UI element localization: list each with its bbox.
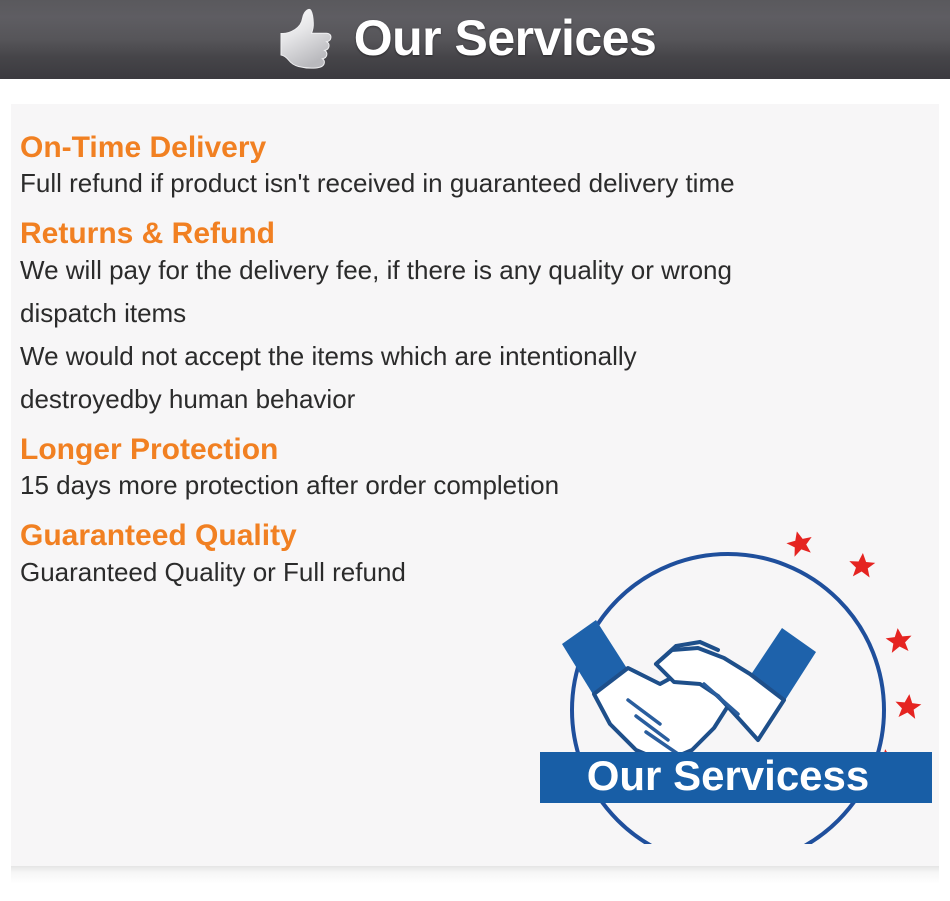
star-icon <box>872 747 901 774</box>
service-line: 15 days more protection after order comp… <box>20 472 939 498</box>
service-line: dispatch items <box>20 300 939 326</box>
service-line: Guaranteed Quality or Full refund <box>20 559 939 585</box>
service-line: destroyedby human behavior <box>20 386 939 412</box>
logo-banner-text: Our Servicess <box>587 752 870 799</box>
service-line: Full refund if product isn't received in… <box>20 170 939 196</box>
services-banner: Our Services <box>0 0 950 901</box>
services-panel: Our Servicess On-Time Delivery Full refu… <box>11 104 939 866</box>
services-list: On-Time Delivery Full refund if product … <box>11 104 939 585</box>
handshake-icon <box>562 620 816 762</box>
star-icon <box>894 693 922 720</box>
service-heading: Longer Protection <box>20 432 939 467</box>
header-bar: Our Services <box>0 0 950 79</box>
service-heading: Returns & Refund <box>20 216 939 251</box>
service-item: Guaranteed Quality Guaranteed Quality or… <box>20 518 939 584</box>
service-item: Longer Protection 15 days more protectio… <box>20 432 939 498</box>
panel-drop-shadow <box>11 866 939 884</box>
service-item: Returns & Refund We will pay for the del… <box>20 216 939 411</box>
service-heading: Guaranteed Quality <box>20 518 939 553</box>
service-heading: On-Time Delivery <box>20 130 939 165</box>
service-item: On-Time Delivery Full refund if product … <box>20 130 939 196</box>
logo-banner <box>540 752 932 803</box>
logo-arc <box>572 554 884 844</box>
page-title: Our Services <box>354 13 657 63</box>
thumbs-up-icon <box>278 8 334 70</box>
header-content: Our Services <box>278 6 657 70</box>
service-line: We would not accept the items which are … <box>20 343 939 369</box>
star-icon <box>885 627 913 654</box>
service-line: We will pay for the delivery fee, if the… <box>20 257 939 283</box>
